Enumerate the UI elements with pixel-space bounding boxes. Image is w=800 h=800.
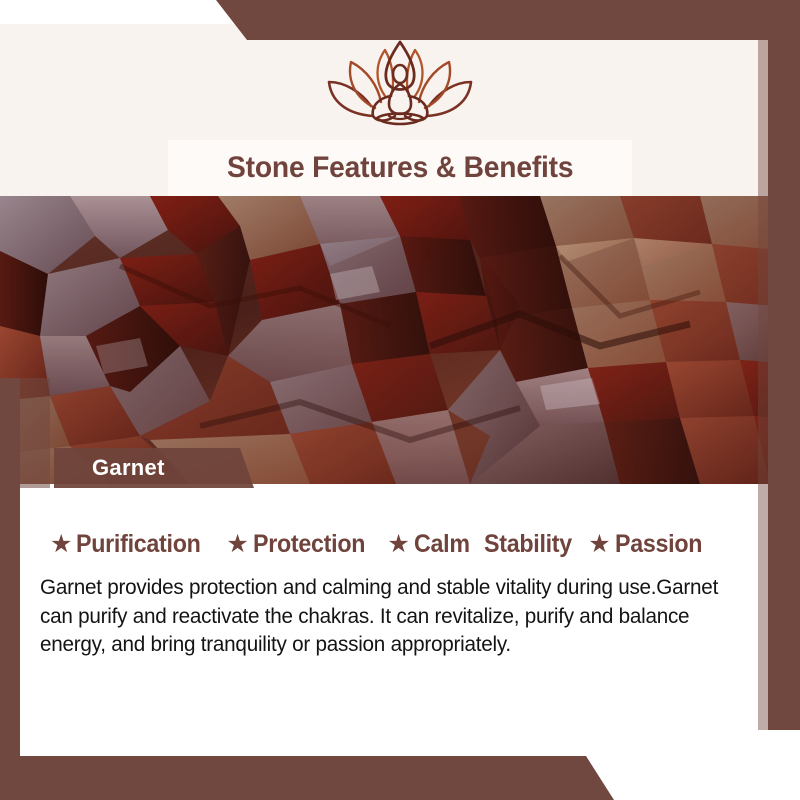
star-icon: ★ (588, 532, 610, 557)
star-icon: ★ (50, 532, 72, 557)
benefit-item: ★Calm (387, 530, 473, 559)
garnet-crystal-cluster-photo (0, 196, 800, 484)
frame-right-shadow (758, 10, 768, 730)
frame-left-bar (0, 378, 20, 756)
benefit-label: Calm (414, 530, 470, 559)
stone-name-badge: Garnet (54, 448, 254, 488)
benefit-item: Stability (484, 530, 579, 559)
frame-bottom-left-bar (0, 756, 800, 800)
lotus-meditation-icon (315, 38, 485, 134)
benefit-label: Purification (76, 530, 201, 559)
garnet-photo-art (0, 196, 800, 484)
page-title: Stone Features & Benefits (227, 151, 573, 185)
frame-left-shadow (20, 378, 50, 488)
star-icon: ★ (387, 532, 409, 557)
star-icon: ★ (226, 532, 248, 557)
frame-right-bar (768, 10, 800, 730)
benefit-item: ★Passion (588, 530, 708, 559)
stone-name-text: Garnet (54, 455, 165, 481)
benefits-row: ★Purification★Protection★CalmStability★P… (50, 530, 750, 559)
infographic-card: Garnet (0, 0, 800, 800)
benefit-label: Protection (253, 530, 365, 559)
title-banner: Stone Features & Benefits (168, 140, 632, 196)
benefit-item: ★Purification (50, 530, 210, 559)
content-panel: ★Purification★Protection★CalmStability★P… (20, 484, 768, 756)
benefit-label: Passion (615, 530, 702, 559)
stone-description: Garnet provides protection and calming a… (40, 574, 741, 660)
benefit-label: Stability (484, 530, 572, 559)
benefit-item: ★Protection (226, 530, 373, 559)
